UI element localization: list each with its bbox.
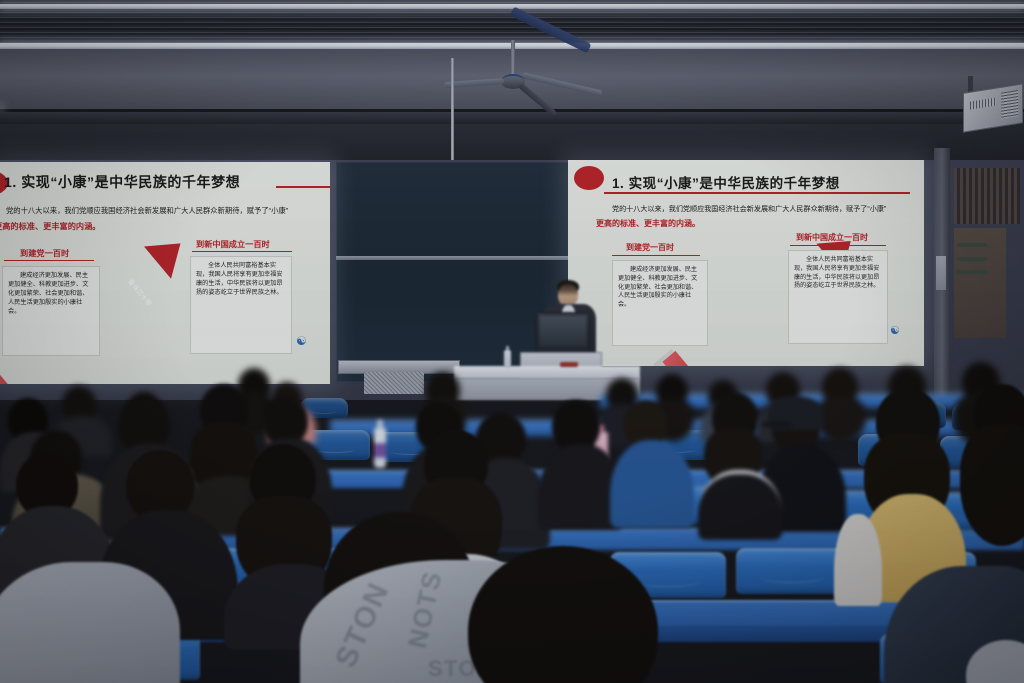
student	[540, 400, 616, 518]
slide-body-line1-left: 党的十八大以来，我们党顺应我国经济社会新发展和广大人民群众新期待，赋予了“小康”	[6, 206, 288, 216]
projection-screen-right: 1. 实现“小康”是中华民族的千年梦想 党的十八大以来，我们党顺应我国经济社会新…	[568, 160, 924, 366]
slide-title-right: 1. 实现“小康”是中华民族的千年梦想	[612, 172, 840, 192]
student-in-mustard-vest	[856, 388, 968, 588]
left-callout-text-left-screen: 建成经济更加发展、民主更加健全、科教更加进步、文化更加繁荣、社会更加和谐、人民生…	[8, 272, 94, 317]
projector-grill	[970, 98, 996, 110]
right-callout-heading-left-screen: 到新中国成立一百时	[196, 238, 270, 250]
left-callout-underline-left-screen	[4, 260, 94, 261]
arrow-shadow-left	[0, 363, 58, 384]
student-torso	[0, 562, 180, 683]
slide-title-underline-right	[604, 192, 910, 194]
left-callout-text-right-screen: 建成经济更加发展、民主更加健全、科教更加进步、文化更加繁荣、社会更加和谐、人民生…	[618, 266, 702, 310]
student-head	[468, 546, 658, 683]
purple-label-water-bottle[interactable]	[374, 428, 386, 468]
slide-body-line2-left: 更高的标准、更丰富的内涵。	[0, 220, 100, 232]
right-callout-text-left-screen: 全体人民共同富裕基本实现，我国人民将享有更加幸福安康的生活，中华民族将以更加昂扬…	[196, 262, 286, 298]
water-bottle-podium[interactable]	[504, 350, 511, 368]
slide-left: 1. 实现“小康”是中华民族的千年梦想 党的十八大以来，我们党顺应我国经济社会新…	[0, 162, 330, 384]
title-decoration-right	[574, 166, 604, 190]
bottle-cap	[377, 420, 383, 429]
student	[960, 384, 1024, 574]
podium-monitor[interactable]	[536, 312, 590, 356]
wooden-railing	[954, 168, 1020, 224]
arrow-shaft-right	[662, 351, 741, 366]
student-hoodie	[610, 440, 694, 528]
student	[700, 392, 774, 522]
pull-rod-shaft	[451, 58, 454, 166]
cardboard-box	[954, 228, 1006, 338]
student	[0, 562, 170, 683]
slide-body-line1-right: 党的十八大以来，我们党顺应我国经济社会新发展和广大人民群众新期待，赋予了“小康”	[612, 204, 886, 214]
student	[468, 546, 698, 683]
slide-right: 1. 实现“小康”是中华民族的千年梦想 党的十八大以来，我们党顺应我国经济社会新…	[568, 160, 924, 366]
projector-mount	[968, 76, 973, 92]
box-label-1	[957, 243, 987, 247]
projector-vent	[1001, 90, 1018, 119]
slide-logo-mark-left: ☯	[296, 334, 307, 348]
ceiling-beam	[0, 112, 1024, 124]
left-callout-underline-right-screen	[612, 255, 700, 256]
right-callout-underline-right-screen	[790, 245, 886, 246]
lecture-hall-photo: 1. 实现“小康”是中华民族的千年梦想 党的十八大以来，我们党顺应我国经济社会新…	[0, 0, 1024, 683]
seat[interactable]	[736, 548, 848, 594]
student	[966, 640, 1024, 683]
right-callout-heading-right-screen: 到新中国成立一百时	[796, 232, 868, 243]
podium-monitor-screen	[540, 316, 586, 345]
light-switch-plate[interactable]	[936, 256, 946, 290]
student-ponytail	[960, 424, 1024, 546]
student	[614, 400, 686, 518]
arrow-head-left	[144, 227, 194, 278]
slide-body-line2-right: 更高的标准、更丰富的内涵。	[596, 218, 700, 229]
student-head	[966, 640, 1024, 683]
slide-logo-mark-right: ☯	[890, 324, 900, 337]
right-callout-underline-left-screen	[192, 251, 292, 252]
box-label-3	[957, 270, 987, 274]
right-callout-text-right-screen: 全体人民共同富裕基本实现，我国人民将享有更加幸福安康的生活，中华民族将以更加昂扬…	[794, 256, 882, 291]
arrow-label-left: 奋斗三十年	[126, 276, 155, 308]
blackboard-rail	[336, 256, 586, 260]
tray-mesh-panel	[364, 372, 424, 394]
left-callout-heading-left-screen: 到建党一百时	[20, 247, 69, 259]
slide-title-left: 1. 实现“小康”是中华民族的千年梦想	[4, 172, 240, 192]
left-callout-heading-right-screen: 到建党一百时	[626, 242, 674, 253]
lecturer-head	[558, 284, 578, 306]
fan-downrod	[511, 40, 515, 76]
arrow-shaft-left	[0, 364, 62, 384]
box-label-2	[957, 257, 987, 261]
projection-screen-left: 1. 实现“小康”是中华民族的千年梦想 党的十八大以来，我们党顺应我国经济社会新…	[0, 162, 330, 384]
slide-title-underline-left	[276, 186, 330, 188]
student-torso	[698, 470, 782, 540]
red-object-on-desk	[560, 362, 578, 367]
